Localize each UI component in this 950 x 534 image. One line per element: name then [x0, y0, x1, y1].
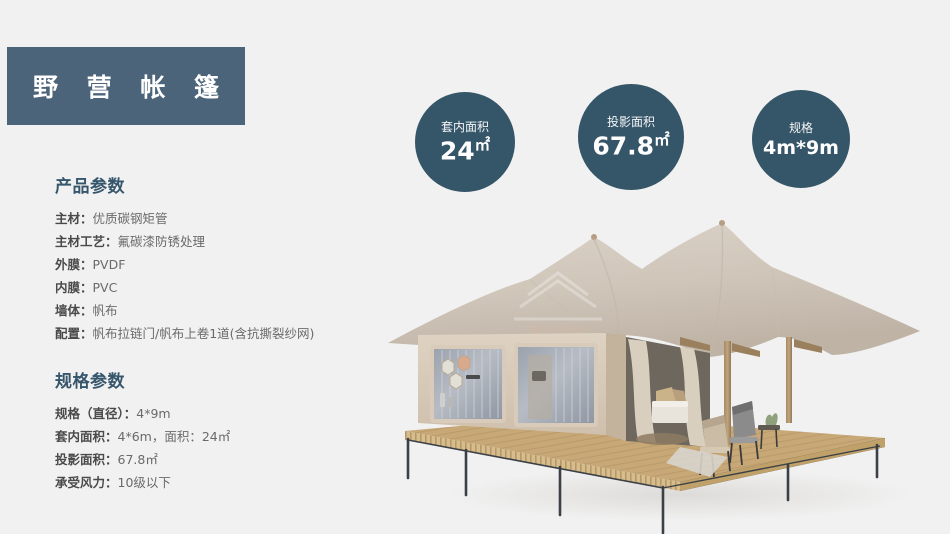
spec-row: 主材工艺：氟碳漆防锈处理: [55, 230, 385, 253]
spec-value: 10级以下: [118, 475, 171, 490]
tent-walls: [418, 333, 626, 441]
spec-value: 优质碳钢矩管: [93, 211, 168, 226]
tent-product-image: 雪利篷房 XUELI TENT: [380, 195, 950, 534]
spec-value: PVDF: [93, 257, 126, 272]
spec-value: 帆布拉链门/帆布上卷1道(含抗撕裂纱网): [93, 326, 315, 341]
badge-interior-area: 套内面积 24㎡: [415, 92, 515, 192]
spec-key: 套内面积：: [55, 429, 118, 444]
spec-panel: 产品参数 主材：优质碳钢矩管 主材工艺：氟碳漆防锈处理 外膜：PVDF 内膜：P…: [55, 172, 385, 512]
spec-value: 帆布: [93, 303, 118, 318]
spec-key: 主材工艺：: [55, 234, 118, 249]
spec-value: 67.8㎡: [118, 452, 158, 467]
badge-group: 套内面积 24㎡ 投影面积 67.8㎡ 规格 4m*9m: [0, 0, 950, 200]
spec-key: 配置：: [55, 326, 93, 341]
spec-key: 规格（直径）：: [55, 406, 136, 421]
spec-key: 外膜：: [55, 257, 93, 272]
potted-plant: [766, 413, 778, 425]
spec-row: 规格（直径）：4*9m: [55, 402, 385, 425]
spec-key: 承受风力：: [55, 475, 118, 490]
tent-interior: [626, 337, 710, 447]
spec-row: 墙体：帆布: [55, 299, 385, 322]
specification-parameters-heading: 规格参数: [55, 367, 385, 392]
badge-value: 4m*9m: [763, 139, 839, 159]
spec-row: 套内面积：4*6m，面积：24㎡: [55, 425, 385, 448]
spec-row: 承受风力：10级以下: [55, 471, 385, 494]
badge-value: 24㎡: [440, 137, 490, 165]
spec-key: 内膜：: [55, 280, 93, 295]
spec-row: 外膜：PVDF: [55, 253, 385, 276]
spec-key: 投影面积：: [55, 452, 118, 467]
specification-parameters-section: 规格参数 规格（直径）：4*9m 套内面积：4*6m，面积：24㎡ 投影面积：6…: [55, 367, 385, 494]
spec-row: 内膜：PVC: [55, 276, 385, 299]
spec-key: 墙体：: [55, 303, 93, 318]
badge-value: 67.8㎡: [592, 132, 669, 160]
spec-value: 4*6m，面积：24㎡: [118, 429, 231, 444]
product-spec-page: 野 营 帐 篷 产品参数 主材：优质碳钢矩管 主材工艺：氟碳漆防锈处理 外膜：P…: [0, 0, 950, 534]
spec-value: 4*9m: [136, 406, 170, 421]
badge-label: 套内面积: [441, 119, 489, 135]
spec-key: 主材：: [55, 211, 93, 226]
spec-row: 主材：优质碳钢矩管: [55, 207, 385, 230]
badge-projected-area: 投影面积 67.8㎡: [578, 84, 684, 190]
spec-row: 投影面积：67.8㎡: [55, 448, 385, 471]
spec-value: 氟碳漆防锈处理: [118, 234, 206, 249]
badge-label: 规格: [789, 120, 813, 136]
rug: [636, 433, 688, 445]
spec-value: PVC: [93, 280, 118, 295]
badge-dimensions: 规格 4m*9m: [752, 90, 850, 188]
spec-row: 配置：帆布拉链门/帆布上卷1道(含抗撕裂纱网): [55, 322, 385, 345]
badge-label: 投影面积: [607, 114, 655, 130]
